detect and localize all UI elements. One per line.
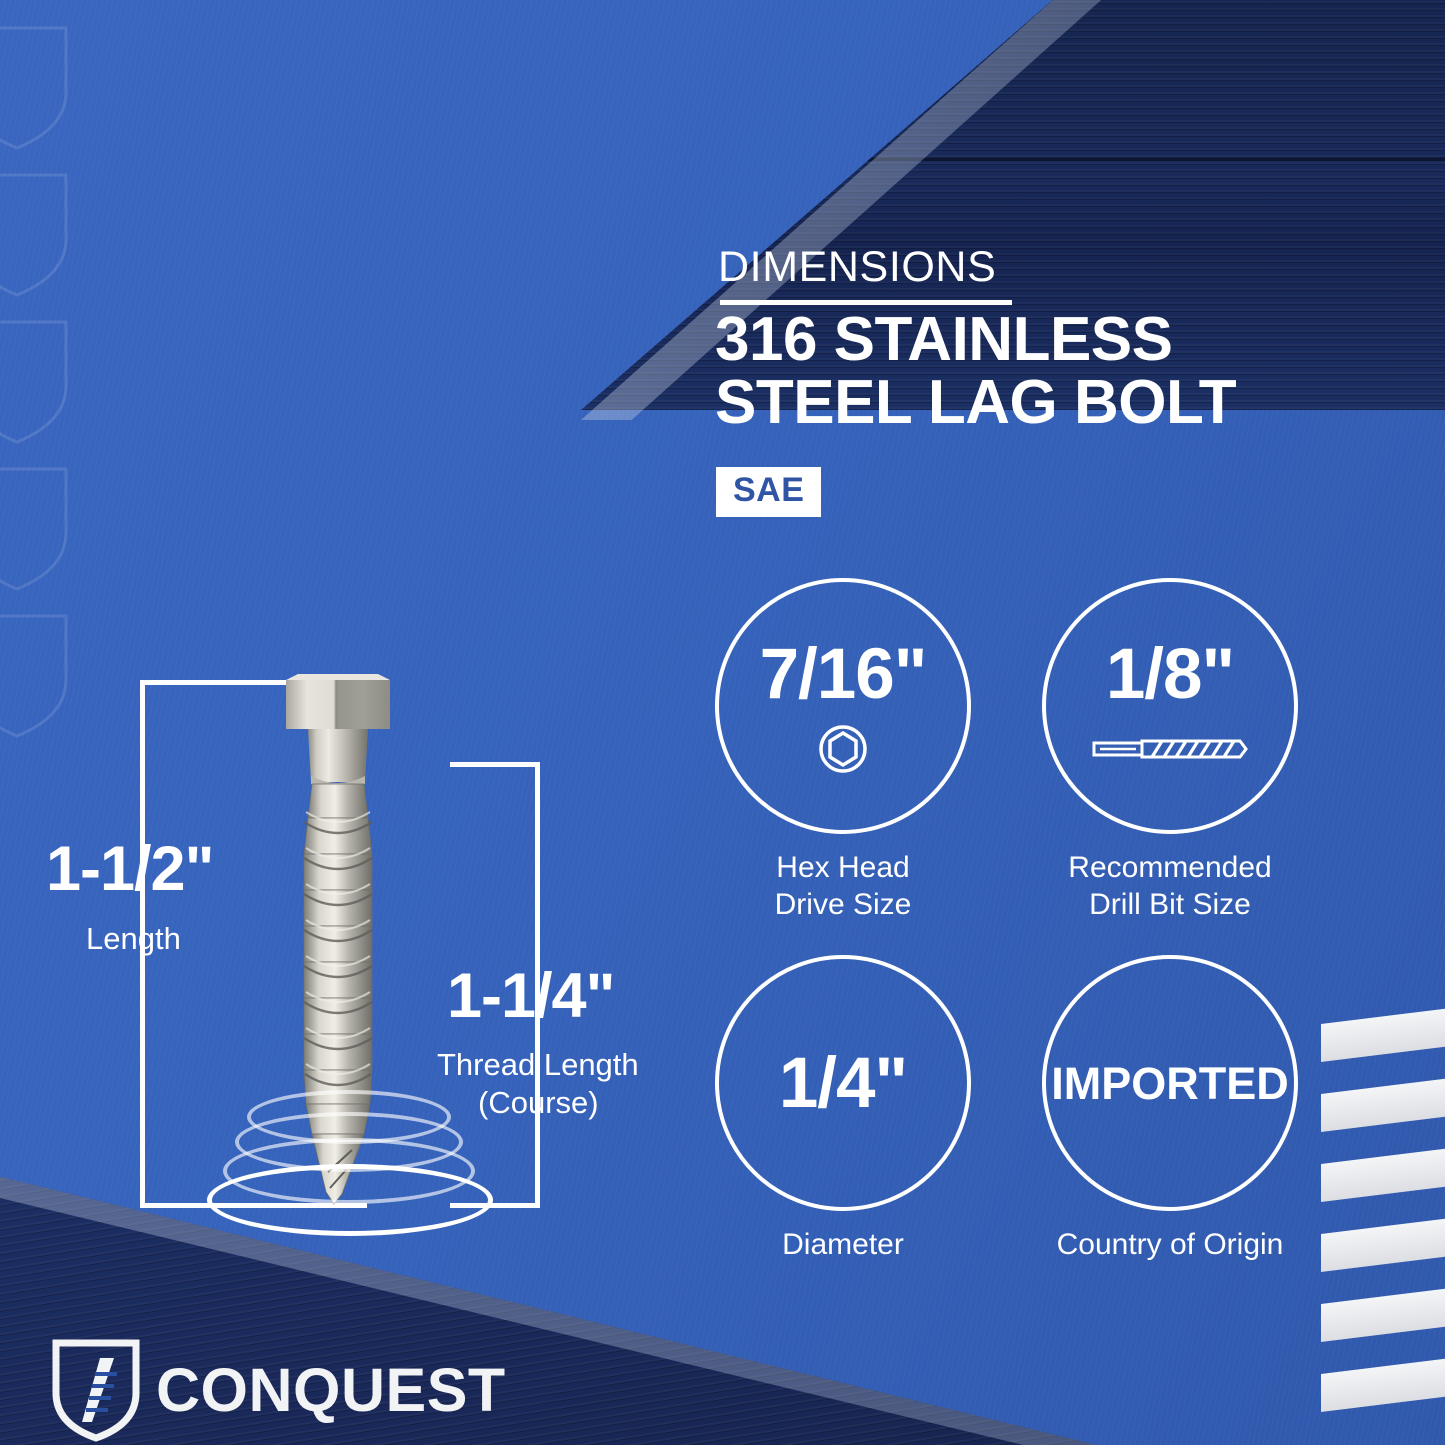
brand-wordmark: CONQUEST xyxy=(156,1360,506,1421)
ripple-ring xyxy=(207,1164,493,1236)
product-dimensions-infographic: DIMENSIONS 316 STAINLESS STEEL LAG BOLT … xyxy=(0,0,1445,1445)
shield-watermark-icon xyxy=(0,608,72,743)
shield-watermark-icon xyxy=(0,20,72,155)
spec-caption: Diameter xyxy=(713,1227,973,1264)
stripe xyxy=(1321,1358,1445,1412)
spec-ring: 7/16" xyxy=(715,578,971,834)
spec-hex-head-drive-size: 7/16" Hex Head Drive Size xyxy=(713,578,973,924)
length-caption: Length xyxy=(86,920,181,957)
shield-watermark-icon xyxy=(0,314,72,449)
spec-diameter: 1/4" Diameter xyxy=(713,955,973,1264)
thread-length-caption-line-2: (Course) xyxy=(478,1084,599,1121)
page-title-line-1: 316 STAINLESS xyxy=(715,305,1173,374)
spec-caption-line-1: Recommended xyxy=(1040,850,1300,887)
page-title: 316 STAINLESS STEEL LAG BOLT xyxy=(715,308,1315,434)
surface-ripples xyxy=(215,1090,475,1225)
spec-value: 1/4" xyxy=(779,1048,907,1119)
drill-bit-icon xyxy=(1090,724,1250,774)
spec-ring: IMPORTED xyxy=(1042,955,1298,1211)
stripe xyxy=(1321,1288,1445,1342)
thread-length-caption-line-1: Thread Length xyxy=(437,1046,639,1083)
spec-caption-line-2: Drive Size xyxy=(713,887,973,924)
spec-caption-line-2: Drill Bit Size xyxy=(1040,887,1300,924)
stripe xyxy=(1321,1218,1445,1272)
spec-country-of-origin: IMPORTED Country of Origin xyxy=(1040,955,1300,1264)
standard-badge: SAE xyxy=(716,467,821,517)
spec-caption: Hex Head Drive Size xyxy=(713,850,973,924)
spec-ring: 1/8" xyxy=(1042,578,1298,834)
shield-watermark-icon xyxy=(0,167,72,302)
spec-value: 1/8" xyxy=(1106,639,1234,710)
shield-screw-icon xyxy=(52,1338,140,1442)
thread-bracket-top xyxy=(450,762,540,767)
spec-value: 7/16" xyxy=(760,639,927,710)
stripe xyxy=(1321,1008,1445,1062)
hex-socket-icon xyxy=(817,724,869,774)
spec-caption: Country of Origin xyxy=(1040,1227,1300,1264)
shield-watermark-column xyxy=(0,20,72,755)
brand-logo: CONQUEST xyxy=(52,1338,506,1442)
stripe xyxy=(1321,1078,1445,1132)
length-value: 1-1/2" xyxy=(46,838,213,901)
spec-caption-line-1: Hex Head xyxy=(713,850,973,887)
stripe xyxy=(1321,1148,1445,1202)
spec-ring: 1/4" xyxy=(715,955,971,1211)
spec-caption-line-1: Diameter xyxy=(713,1227,973,1264)
page-title-line-2: STEEL LAG BOLT xyxy=(715,371,1315,434)
thread-length-value: 1-1/4" xyxy=(447,965,614,1028)
spec-caption: Recommended Drill Bit Size xyxy=(1040,850,1300,924)
spec-recommended-drill-bit-size: 1/8" R xyxy=(1040,578,1300,924)
spec-value: IMPORTED xyxy=(1051,1061,1289,1106)
spec-caption-line-1: Country of Origin xyxy=(1040,1227,1300,1264)
eyebrow-label: DIMENSIONS xyxy=(718,243,996,292)
decorative-stripes xyxy=(1325,1010,1445,1430)
shield-watermark-icon xyxy=(0,461,72,596)
